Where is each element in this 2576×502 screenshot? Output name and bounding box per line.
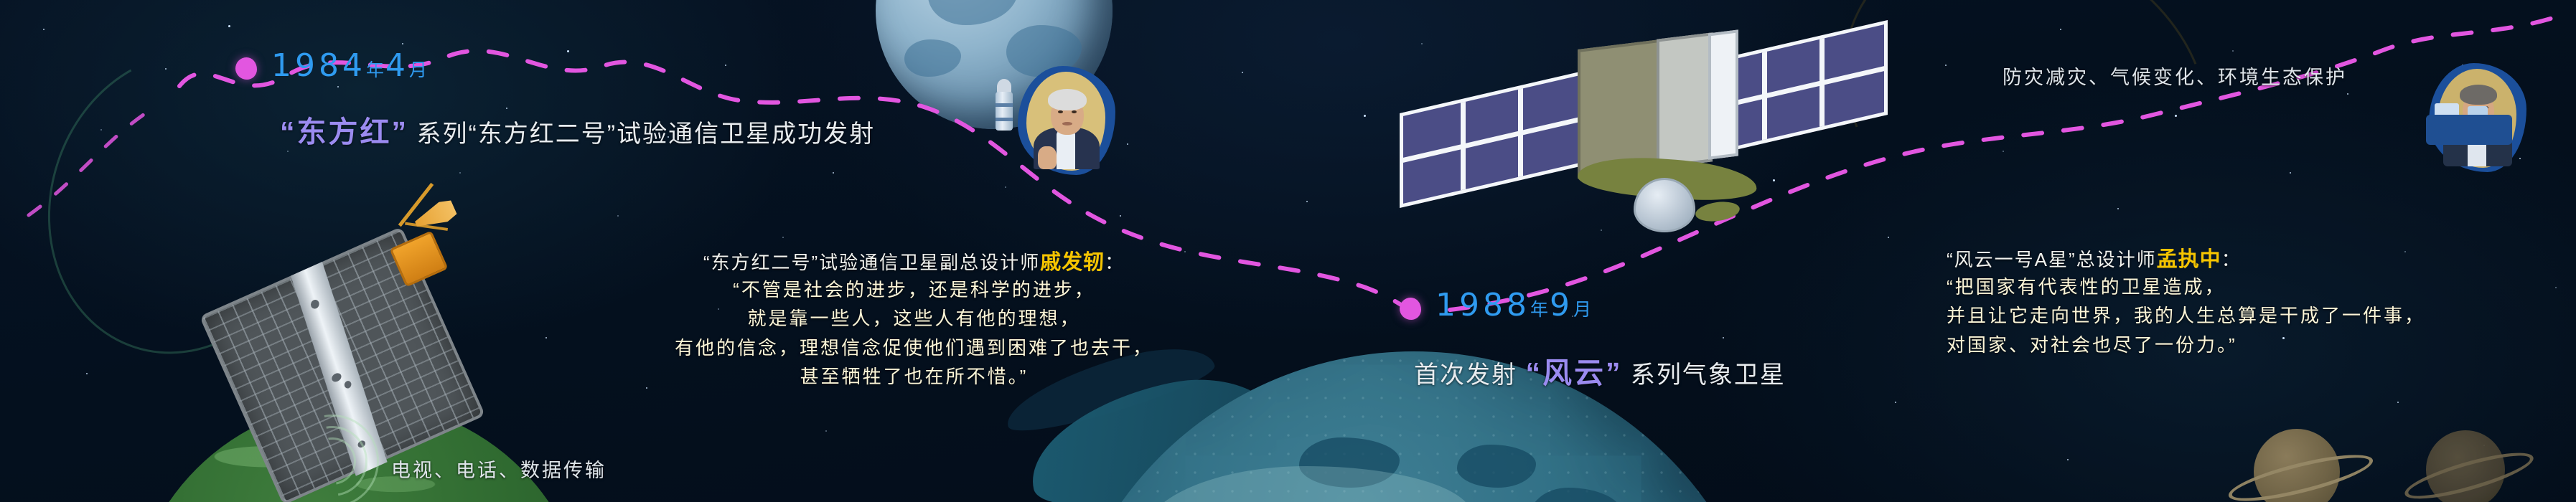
caption-1988: 防灾减灾、气候变化、环境生态保护 (2003, 62, 2347, 90)
infographic-canvas: 1984年4月 “东方红” 系列“东方红二号”试验通信卫星成功发射 电视、电话、… (0, 0, 2576, 502)
milestone-date-1984: 1984年4月 (271, 47, 428, 84)
caption-1984: 电视、电话、数据传输 (391, 455, 606, 483)
date-year: 1984 (271, 47, 366, 84)
date-year: 1988 (1435, 287, 1530, 323)
quote-block-qi-faren: “东方红二号”试验通信卫星副总设计师戚发轫： “不管是社会的进步，还是科学的进步… (675, 245, 1153, 391)
date-month: 9 (1550, 287, 1573, 323)
quote-line: “把国家有代表性的卫星造成， (1947, 273, 2425, 301)
milestone-node-1988[interactable] (1400, 298, 1421, 320)
quote-lead: “东方红二号”试验通信卫星副总设计师 (703, 252, 1040, 273)
headline-rest: 系列气象卫星 (1631, 361, 1786, 389)
quote-block-meng-zhizhong: “风云一号A星”总设计师孟执中： “把国家有代表性的卫星造成， 并且让它走向世界… (1947, 242, 2425, 359)
quote-colon: ： (1105, 252, 1125, 273)
headline-highlight: “东方红” (280, 115, 408, 148)
headline-1988: 首次发射 “风云” 系列气象卫星 (1414, 349, 1786, 392)
workstation-illustration (2426, 115, 2512, 145)
milestone-date-1988: 1988年9月 (1435, 287, 1593, 323)
date-year-unit: 年 (1530, 299, 1550, 320)
headline-1984: “东方红” 系列“东方红二号”试验通信卫星成功发射 (280, 108, 875, 151)
quote-line: 就是靠一些人，这些人有他的理想， (675, 304, 1153, 333)
milestone-node-1984[interactable] (235, 57, 257, 80)
quote-lead: “风云一号A星”总设计师 (1947, 249, 2157, 270)
date-year-unit: 年 (366, 60, 385, 80)
date-month-unit: 月 (1573, 299, 1593, 320)
quote-line: “不管是社会的进步，还是科学的进步， (675, 275, 1153, 304)
qi-faren-portrait (1032, 77, 1101, 169)
quote-line: 有他的信念，理想信念促使他们遇到困难了也去干， (675, 333, 1153, 362)
headline-rest: 系列“东方红二号”试验通信卫星成功发射 (416, 120, 875, 148)
quote-colon: ： (2221, 249, 2242, 270)
date-month-unit: 月 (409, 60, 428, 80)
quote-speaker-name: 孟执中 (2157, 248, 2221, 271)
quote-line: 并且让它走向世界，我的人生总算是干成了一件事， (1947, 301, 2425, 330)
quote-line: 对国家、对社会也尽了一份力。” (1947, 331, 2425, 359)
fengyun-satellite-illustration (1400, 0, 1845, 229)
rocket-illustration (992, 79, 1016, 141)
quote-speaker-name: 戚发轫 (1040, 251, 1105, 274)
quote-line: 甚至牺牲了也在所不惜。” (675, 362, 1153, 391)
headline-highlight: “风云” (1525, 356, 1622, 389)
date-month: 4 (385, 47, 409, 84)
headline-prefix: 首次发射 (1414, 361, 1517, 389)
ringed-planet-secondary (2426, 430, 2505, 502)
